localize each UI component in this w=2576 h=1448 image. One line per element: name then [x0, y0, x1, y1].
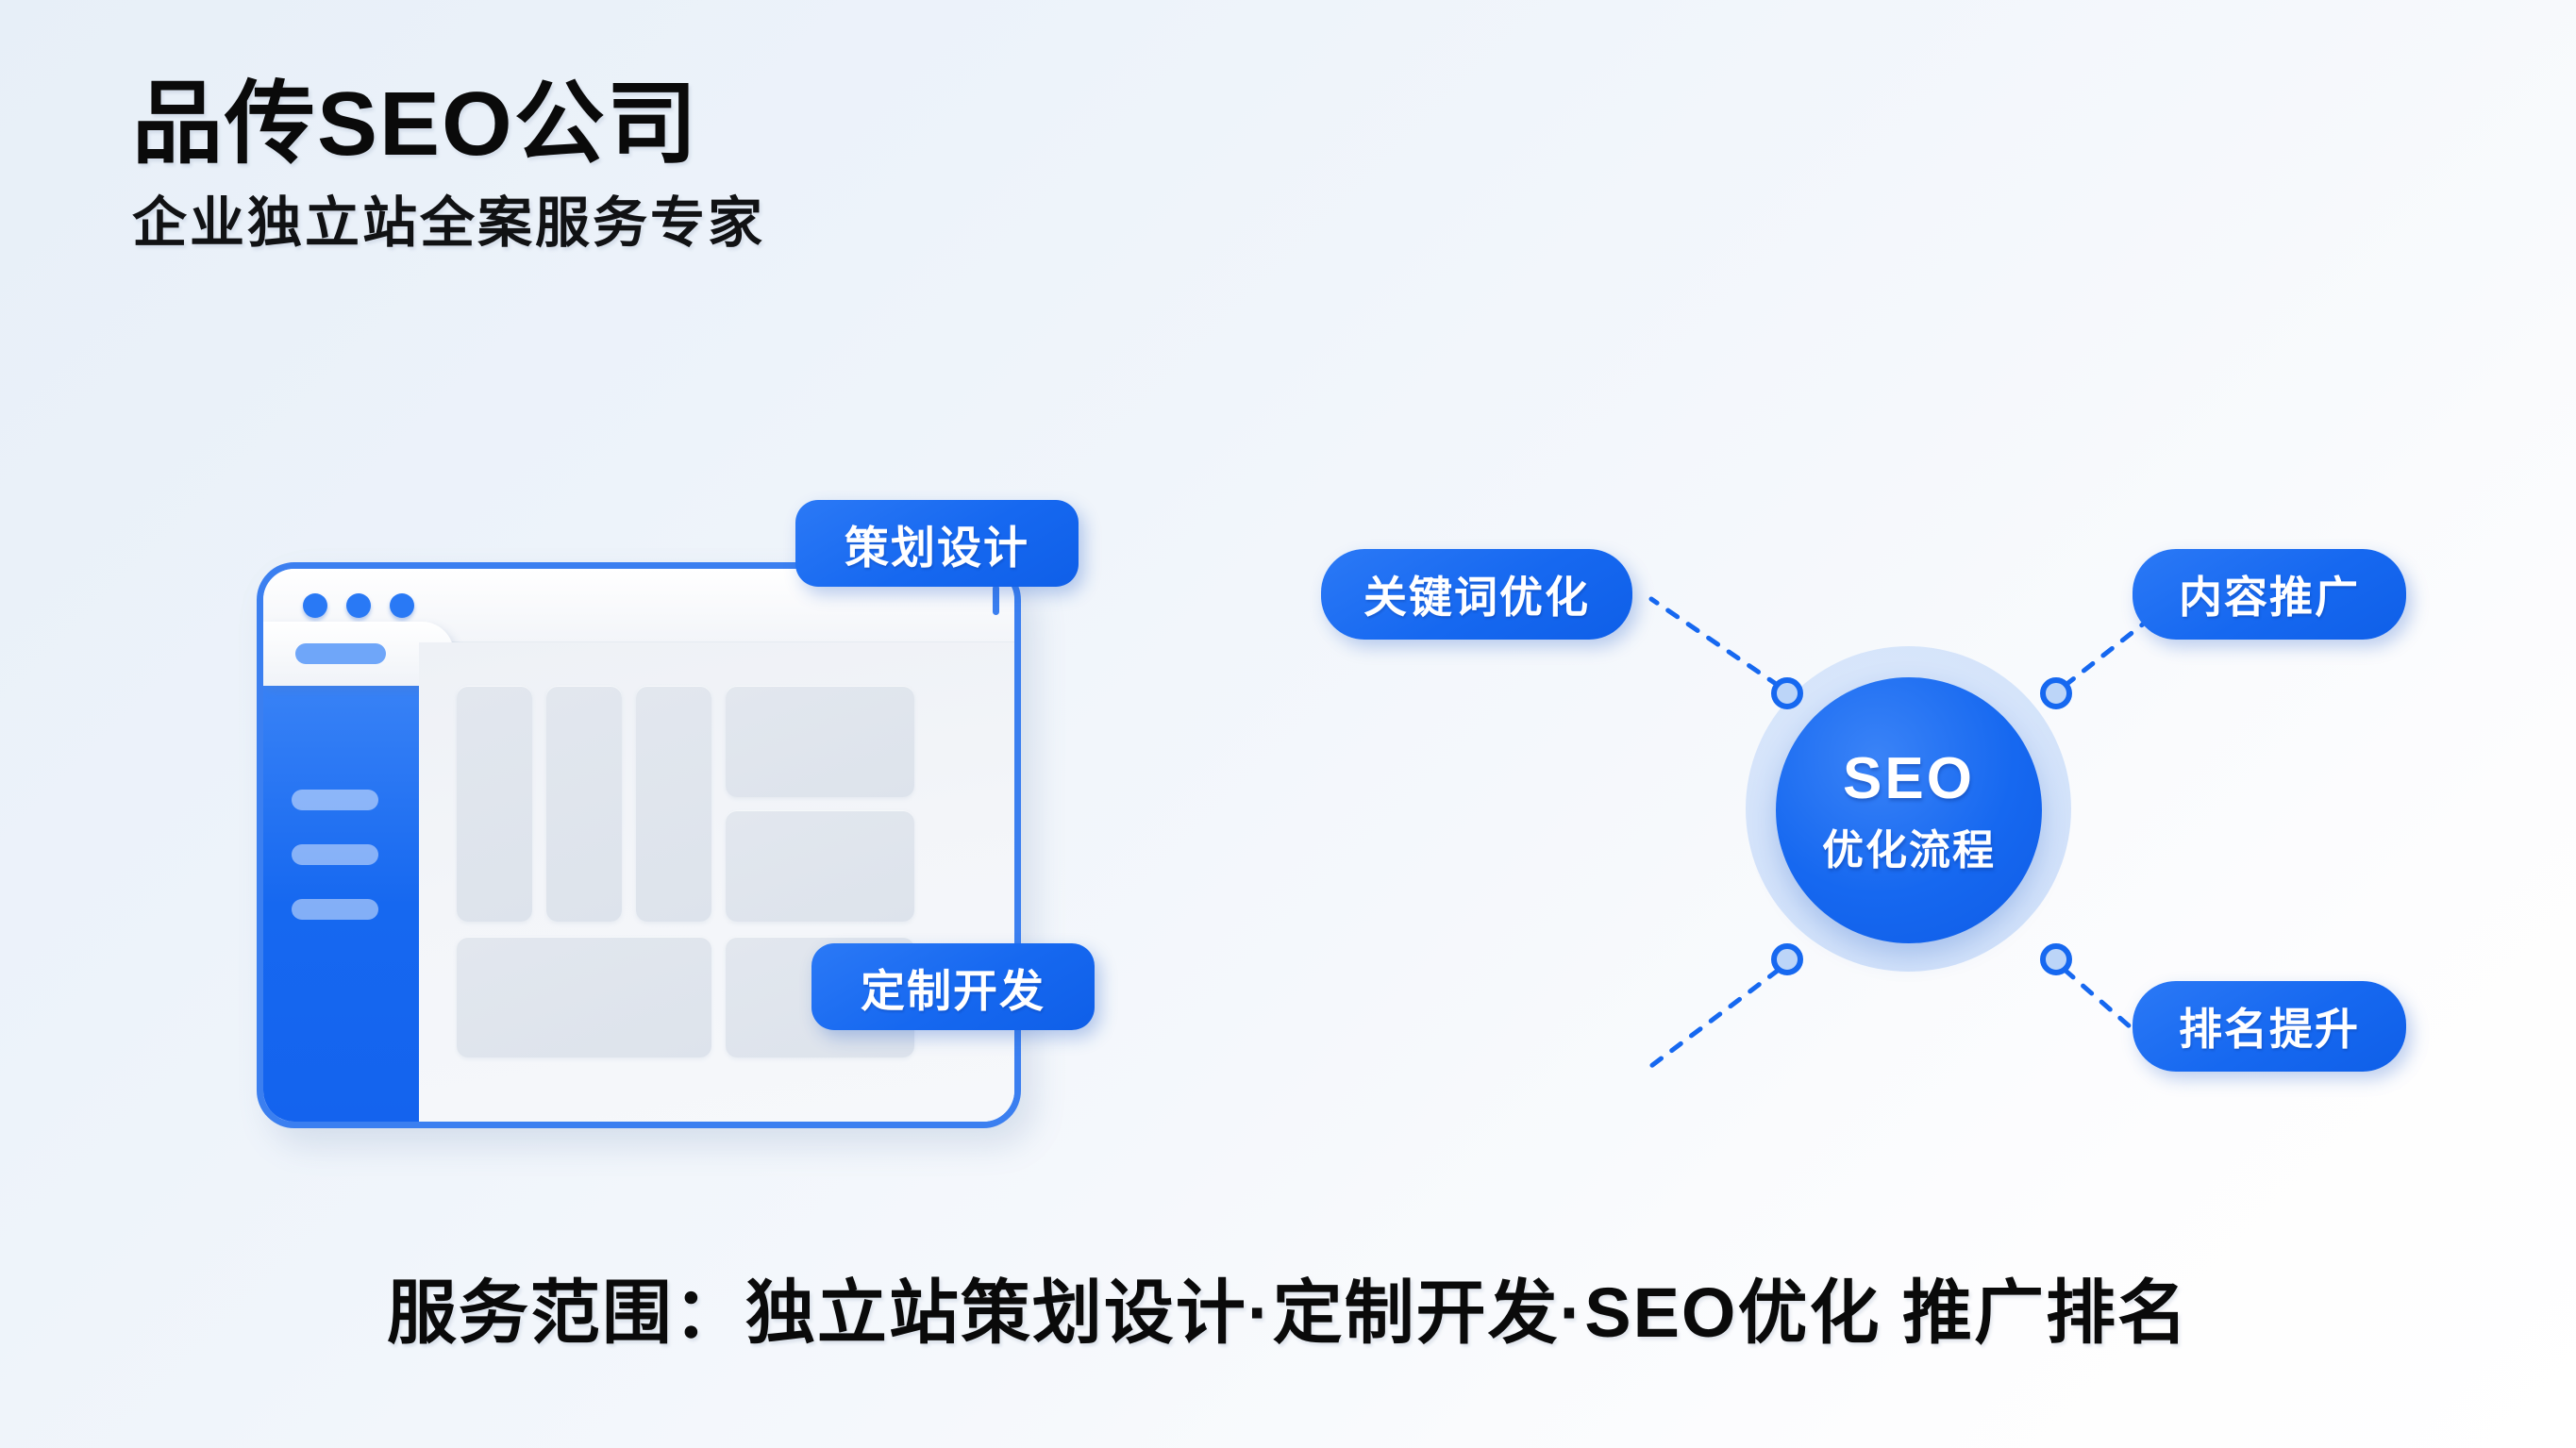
seo-hub-diagram: SEO 优化流程 关键词优化 内容推广 排名提升: [1302, 500, 2482, 1160]
browser-window-illustration: [257, 562, 1021, 1128]
sidebar-item-placeholder: [292, 790, 378, 810]
footer-service-scope: 服务范围：独立站策划设计·定制开发·SEO优化 推广排名: [0, 1257, 2576, 1357]
window-dot-icon: [303, 593, 327, 618]
sidebar-item-placeholder: [292, 844, 378, 865]
hub-core-subtitle: 优化流程: [1822, 816, 1996, 876]
hub-core-circle: SEO 优化流程: [1776, 677, 2042, 943]
badge-keyword-optimization: 关键词优化: [1321, 549, 1632, 640]
badge-custom-development: 定制开发: [811, 943, 1095, 1030]
browser-content-area: [419, 642, 1014, 1122]
badge-ranking-improvement: 排名提升: [2133, 981, 2406, 1072]
hub-node-bottom-left: [1771, 943, 1803, 975]
content-block: [457, 686, 532, 922]
browser-frame: [257, 562, 1021, 1128]
badge-connector-stem: [993, 585, 999, 615]
content-block: [726, 686, 914, 797]
sidebar-active-bar: [295, 643, 386, 664]
page-title: 品传SEO公司: [132, 77, 765, 173]
window-dot-icon: [346, 593, 371, 618]
window-control-dots: [303, 593, 414, 618]
sidebar-item-placeholder: [292, 899, 378, 920]
connector-line-bottom-left: [1651, 970, 1779, 1066]
hub-node-top-right: [2040, 677, 2072, 709]
page-header: 品传SEO公司 企业独立站全案服务专家: [132, 77, 765, 254]
window-dot-icon: [390, 593, 414, 618]
content-block: [726, 810, 914, 922]
badge-content-promotion: 内容推广: [2133, 549, 2406, 640]
browser-sidebar: [263, 642, 419, 1122]
content-block: [457, 937, 711, 1057]
hub-node-bottom-right: [2040, 943, 2072, 975]
page-subtitle: 企业独立站全案服务专家: [132, 193, 765, 254]
content-block: [636, 686, 711, 922]
hub-node-top-left: [1771, 677, 1803, 709]
hub-core-title: SEO: [1843, 745, 1975, 812]
content-block: [546, 686, 622, 922]
connector-line-top-left: [1651, 599, 1779, 686]
badge-planning-design: 策划设计: [795, 500, 1079, 587]
